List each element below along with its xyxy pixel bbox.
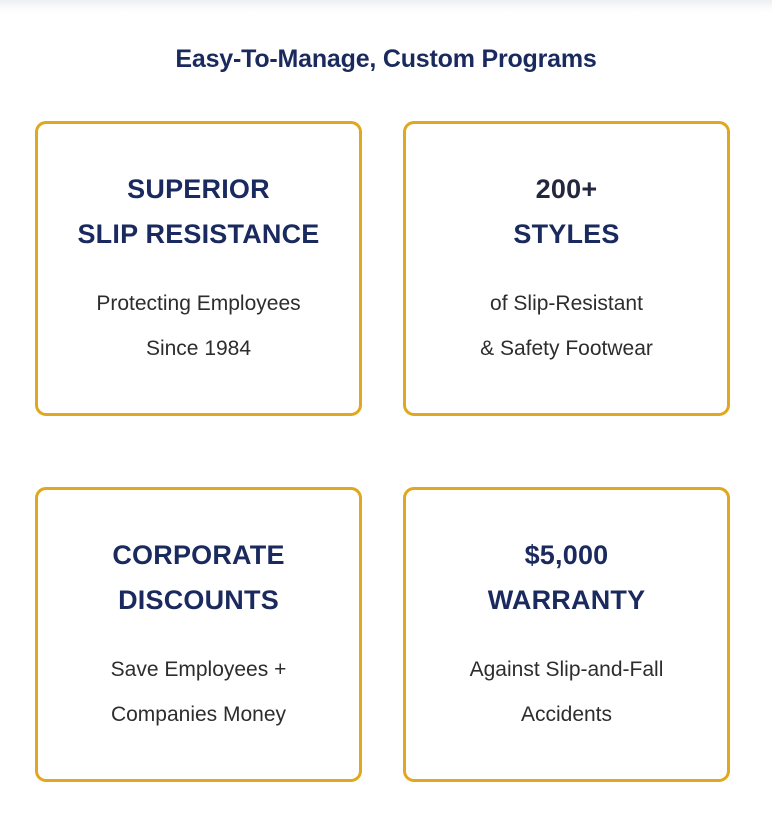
card-heading: SUPERIOR SLIP RESISTANCE <box>77 167 319 257</box>
card-heading-line-2: WARRANTY <box>488 578 646 623</box>
benefit-card-corporate-discounts[interactable]: CORPORATE DISCOUNTS Save Employees + Com… <box>35 487 362 782</box>
card-heading-line-1: SUPERIOR <box>77 167 319 212</box>
card-heading-line-1: 200+ <box>513 167 619 212</box>
card-body-line-2: Since 1984 <box>96 326 300 371</box>
card-heading: 200+ STYLES <box>513 167 619 257</box>
card-body: Against Slip-and-Fall Accidents <box>470 647 664 737</box>
card-heading-line-1: $5,000 <box>488 533 646 578</box>
card-body-line-1: Save Employees + <box>111 647 287 692</box>
card-heading-line-2: DISCOUNTS <box>112 578 284 623</box>
card-heading: CORPORATE DISCOUNTS <box>112 533 284 623</box>
benefit-card-200-plus-styles[interactable]: 200+ STYLES of Slip-Resistant & Safety F… <box>403 121 730 416</box>
card-body-line-1: Against Slip-and-Fall <box>470 647 664 692</box>
card-heading-line-2: STYLES <box>513 212 619 257</box>
card-body: of Slip-Resistant & Safety Footwear <box>480 281 653 371</box>
card-body-line-2: Accidents <box>470 692 664 737</box>
card-body: Save Employees + Companies Money <box>111 647 287 737</box>
benefit-card-warranty[interactable]: $5,000 WARRANTY Against Slip-and-Fall Ac… <box>403 487 730 782</box>
card-body-line-2: Companies Money <box>111 692 287 737</box>
card-body-line-2: & Safety Footwear <box>480 326 653 371</box>
card-body: Protecting Employees Since 1984 <box>96 281 300 371</box>
programs-section: Easy-To-Manage, Custom Programs SUPERIOR… <box>0 0 772 822</box>
benefit-card-superior-slip-resistance[interactable]: SUPERIOR SLIP RESISTANCE Protecting Empl… <box>35 121 362 416</box>
page-title: Easy-To-Manage, Custom Programs <box>0 43 772 75</box>
card-body-line-1: Protecting Employees <box>96 281 300 326</box>
card-heading-line-1: CORPORATE <box>112 533 284 578</box>
card-heading-line-2: SLIP RESISTANCE <box>77 212 319 257</box>
section-top-shadow <box>0 0 772 14</box>
benefit-card-grid: SUPERIOR SLIP RESISTANCE Protecting Empl… <box>35 121 730 782</box>
card-body-line-1: of Slip-Resistant <box>480 281 653 326</box>
card-heading: $5,000 WARRANTY <box>488 533 646 623</box>
